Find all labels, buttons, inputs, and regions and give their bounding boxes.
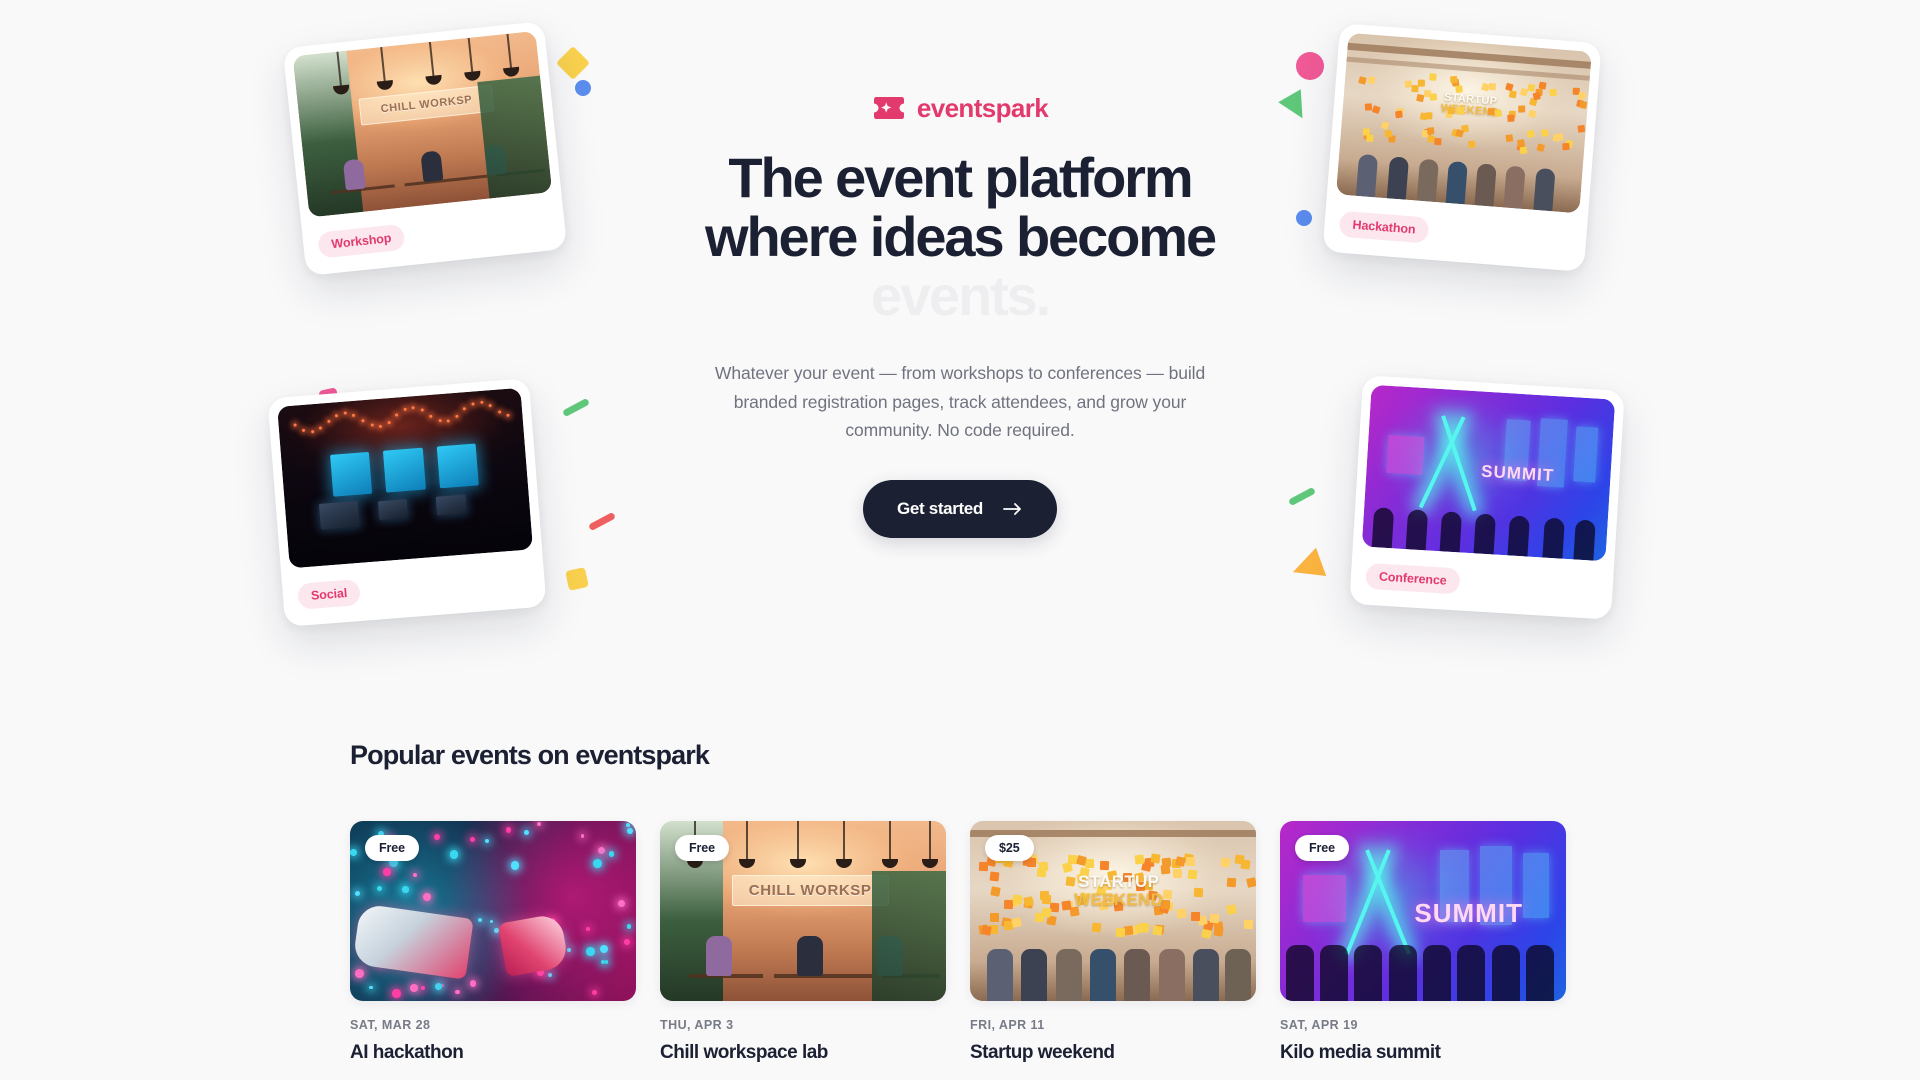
headline-line-3: events. xyxy=(650,267,1270,326)
attendee xyxy=(1492,945,1520,1001)
sticky-note xyxy=(1556,133,1564,141)
string-light-bulb xyxy=(420,409,423,412)
floating-card-conference[interactable]: SUMMIT Conference xyxy=(1349,375,1624,620)
neural-node xyxy=(586,927,590,931)
popular-events-grid: FreeSAT, MAR 28AI hackathonCHILL WORKSPF… xyxy=(350,821,1570,1065)
wall-sign: CHILL WORKSP xyxy=(732,875,889,906)
neural-node xyxy=(626,823,630,827)
string-light-bulb xyxy=(335,414,338,417)
sticky-note xyxy=(1549,89,1557,97)
neural-node xyxy=(609,851,614,856)
neural-node xyxy=(450,850,459,859)
sticky-note xyxy=(1367,134,1374,141)
neural-node xyxy=(598,847,605,854)
string-light-bulb xyxy=(412,406,415,409)
neural-node xyxy=(624,939,630,945)
event-price-badge: Free xyxy=(1295,835,1349,861)
attendee xyxy=(1320,945,1348,1001)
attendee xyxy=(1526,945,1554,1001)
event-card-image: CHILL WORKSPFree xyxy=(660,821,946,1001)
neural-node xyxy=(410,984,418,992)
sticky-note xyxy=(1153,926,1163,936)
sticky-note xyxy=(1562,143,1569,150)
sticky-note xyxy=(1241,860,1251,870)
neural-node xyxy=(567,948,571,952)
event-title[interactable]: Startup weekend xyxy=(970,1041,1256,1065)
sticky-note xyxy=(1227,878,1237,888)
floating-card-image-workshop: CHILL WORKSP xyxy=(293,31,553,218)
neural-node xyxy=(355,969,364,978)
sticky-note xyxy=(1135,924,1145,934)
floating-card-social[interactable]: Social xyxy=(267,378,546,627)
event-tag-chip: Workshop xyxy=(317,224,405,259)
event-card-image: Free xyxy=(350,821,636,1001)
event-title[interactable]: AI hackathon xyxy=(350,1041,636,1065)
sticky-note xyxy=(1368,76,1377,85)
string-light-bulb xyxy=(311,430,314,433)
hero-subheadline: Whatever your event — from workshops to … xyxy=(705,359,1215,444)
neural-node xyxy=(485,839,489,843)
event-card-image: SUMMITFree xyxy=(1280,821,1566,1001)
event-title[interactable]: Chill workspace lab xyxy=(660,1041,946,1065)
sticky-note xyxy=(1037,868,1047,878)
sticky-note xyxy=(1579,100,1587,108)
sticky-note xyxy=(1371,105,1380,114)
brand-logo[interactable]: eventspark xyxy=(650,95,1270,121)
confetti-triangle-yellow-conf xyxy=(1288,548,1326,586)
pendant-lamp xyxy=(797,821,799,861)
confetti-bar-green-social xyxy=(562,398,590,417)
string-light-bulb xyxy=(370,424,373,427)
sticky-note xyxy=(1193,887,1203,897)
string-light-bulb xyxy=(352,413,355,416)
event-tag-chip: Hackathon xyxy=(1339,211,1430,244)
sticky-note xyxy=(1124,925,1134,935)
attendee xyxy=(1286,945,1314,1001)
desk xyxy=(774,974,871,978)
confetti-triangle-green-right xyxy=(1278,89,1314,125)
sticky-note xyxy=(1577,125,1585,133)
brand-name: eventspark xyxy=(917,95,1048,121)
confetti-circle-pink-right xyxy=(1296,52,1324,80)
string-light-bulb xyxy=(344,411,347,414)
robot-hand-right xyxy=(497,913,568,977)
sticky-note xyxy=(1457,107,1464,114)
sticky-note xyxy=(1541,129,1549,137)
sticky-note xyxy=(1246,878,1256,889)
sticky-note xyxy=(1425,113,1432,120)
neural-node xyxy=(355,891,360,896)
sticky-note xyxy=(981,925,992,936)
sticky-note xyxy=(1210,914,1220,924)
sticky-note xyxy=(1226,905,1237,916)
attendee xyxy=(1159,949,1185,1001)
sticky-note xyxy=(1427,127,1435,135)
popular-events-title: Popular events on eventspark xyxy=(350,740,1570,771)
attendee xyxy=(1423,945,1451,1001)
neural-node xyxy=(593,859,602,868)
sticky-note xyxy=(1035,913,1044,922)
neural-node xyxy=(511,861,520,870)
attendee xyxy=(987,949,1013,1001)
sticky-note xyxy=(1134,854,1144,864)
attendee xyxy=(1389,945,1417,1001)
hero-section: CHILL WORKSP Workshop STARTUPWEE xyxy=(0,0,1920,730)
neural-node xyxy=(383,868,391,876)
confetti-circle-blue-left xyxy=(575,80,591,96)
neural-node xyxy=(402,886,408,892)
neural-node xyxy=(605,960,608,963)
event-card[interactable]: STARTUPWEEKEND$25FRI, APR 11Startup week… xyxy=(970,821,1256,1065)
sticky-note xyxy=(1520,147,1528,155)
headline-line-1: The event platform xyxy=(650,149,1270,208)
sticky-note xyxy=(989,872,999,882)
sticky-note xyxy=(1447,107,1454,114)
string-light-bulb xyxy=(403,408,406,411)
sticky-note xyxy=(1091,922,1101,932)
attendee xyxy=(1193,949,1219,1001)
confetti-bar-red-social xyxy=(588,512,616,531)
sticky-note xyxy=(1418,79,1425,86)
attendee xyxy=(1021,949,1047,1001)
neural-node xyxy=(434,834,440,840)
attendee xyxy=(1090,949,1116,1001)
landing-page: CHILL WORKSP Workshop STARTUPWEE xyxy=(0,0,1920,1080)
sticky-note xyxy=(1538,81,1546,89)
confetti-diamond-yellow-left xyxy=(556,46,590,80)
neural-node xyxy=(350,849,357,856)
neural-node xyxy=(470,980,476,986)
string-light-bulb xyxy=(293,423,296,426)
neural-node xyxy=(548,973,552,977)
sticky-note xyxy=(1011,917,1022,928)
string-light-bulb xyxy=(327,420,330,423)
sticky-note xyxy=(1507,115,1514,122)
sticky-note xyxy=(1518,106,1525,113)
sticky-note xyxy=(1429,73,1437,81)
event-card[interactable]: FreeSAT, MAR 28AI hackathon xyxy=(350,821,636,1065)
floating-card-image-conference: SUMMIT xyxy=(1362,385,1615,562)
neural-node xyxy=(392,989,401,998)
floating-card-workshop[interactable]: CHILL WORKSP Workshop xyxy=(283,21,568,276)
headline-line-2: where ideas become xyxy=(650,208,1270,267)
neural-node xyxy=(506,827,511,832)
neural-node xyxy=(618,900,625,907)
sticky-note xyxy=(1013,895,1023,905)
event-card-image: STARTUPWEEKEND$25 xyxy=(970,821,1256,1001)
neural-node xyxy=(423,893,431,901)
sticky-note xyxy=(1395,110,1403,118)
confetti-circle-blue-right xyxy=(1296,210,1312,226)
neural-node xyxy=(592,990,597,995)
floating-card-image-social xyxy=(277,388,533,569)
sticky-note xyxy=(1116,928,1126,938)
confetti-bar-green-conf xyxy=(1288,487,1316,506)
attendee xyxy=(877,936,903,976)
sticky-note xyxy=(1385,130,1392,137)
robot-hand-left xyxy=(352,903,474,980)
confetti-square-yellow-social xyxy=(565,567,589,591)
string-light-bulb xyxy=(302,428,305,431)
string-light-bulb xyxy=(455,414,458,417)
hero-headline: The event platform where ideas become ev… xyxy=(650,149,1270,325)
string-light-bulb xyxy=(379,425,382,428)
floating-card-image-hackathon: STARTUPWEEKEND xyxy=(1336,33,1592,214)
hero-content: eventspark The event platform where idea… xyxy=(650,95,1270,538)
get-started-button[interactable]: Get started xyxy=(863,480,1057,538)
string-light-bulb xyxy=(438,419,441,422)
neural-node xyxy=(537,822,541,826)
string-light-bulb xyxy=(429,414,432,417)
desk xyxy=(883,974,940,978)
event-price-badge: $25 xyxy=(985,835,1034,861)
string-light-bulb xyxy=(471,402,474,405)
event-price-badge: Free xyxy=(365,835,419,861)
sticky-note xyxy=(1427,135,1435,143)
sticky-note xyxy=(1505,134,1513,142)
stage-laser xyxy=(1345,850,1391,955)
attendee xyxy=(1354,945,1382,1001)
neural-node xyxy=(627,828,633,834)
sticky-note xyxy=(1358,76,1367,85)
sticky-note xyxy=(1456,85,1464,93)
sticky-note xyxy=(1099,861,1108,870)
attendee xyxy=(1124,949,1150,1001)
string-light-bulb xyxy=(387,421,390,424)
neural-node xyxy=(581,834,585,838)
sticky-note xyxy=(990,913,999,922)
sticky-note xyxy=(1527,83,1535,91)
startup-weekend-sign: STARTUPWEEKEND xyxy=(1047,871,1190,911)
event-card[interactable]: SUMMITFreeSAT, APR 19Kilo media summit xyxy=(1280,821,1566,1065)
neural-node xyxy=(586,947,595,956)
string-light-bulb xyxy=(489,404,492,407)
get-started-label: Get started xyxy=(897,499,983,519)
event-card[interactable]: CHILL WORKSPFreeTHU, APR 3Chill workspac… xyxy=(660,821,946,1065)
string-light-bulb xyxy=(480,401,483,404)
sticky-note xyxy=(1526,130,1534,138)
stage-laser xyxy=(1365,850,1411,955)
sticky-note xyxy=(1220,857,1231,868)
neural-node xyxy=(601,960,605,964)
sticky-note xyxy=(1429,93,1437,101)
string-light-bulb xyxy=(463,408,466,411)
neural-node xyxy=(600,945,608,953)
floating-card-hackathon[interactable]: STARTUPWEEKEND Hackathon xyxy=(1322,23,1601,272)
popular-events-section: Popular events on eventspark FreeSAT, MA… xyxy=(0,740,1920,1065)
string-light-bulb xyxy=(506,414,509,417)
string-light-bulb xyxy=(447,419,450,422)
sticky-note xyxy=(1533,92,1541,100)
neural-node xyxy=(470,837,475,842)
pendant-lamp xyxy=(746,821,748,861)
event-title[interactable]: Kilo media summit xyxy=(1280,1041,1566,1065)
led-screen-panel xyxy=(1523,853,1549,918)
string-light-bulb xyxy=(319,427,322,430)
pendant-lamp xyxy=(843,821,845,861)
event-date: FRI, APR 11 xyxy=(970,1018,1256,1032)
arrow-right-icon xyxy=(1003,502,1023,516)
sticky-note xyxy=(1450,76,1458,84)
attendee xyxy=(1225,949,1251,1001)
sticky-note xyxy=(1186,857,1195,866)
event-date: SAT, APR 19 xyxy=(1280,1018,1566,1032)
sticky-note xyxy=(1578,91,1586,99)
sticky-note xyxy=(1150,854,1160,864)
event-tag-chip: Conference xyxy=(1365,563,1460,595)
led-screen-panel xyxy=(1303,875,1346,922)
neural-node xyxy=(377,886,383,892)
event-date: SAT, MAR 28 xyxy=(350,1018,636,1032)
neural-node xyxy=(490,920,493,923)
neural-node xyxy=(421,986,426,991)
sticky-note xyxy=(1516,139,1524,147)
string-light-bulb xyxy=(498,410,501,413)
string-light-bulb xyxy=(395,414,398,417)
sticky-note xyxy=(990,886,1001,897)
neural-node xyxy=(478,918,482,922)
string-light-bulb xyxy=(361,419,364,422)
summit-wordmark: SUMMIT xyxy=(1414,898,1523,929)
neural-node xyxy=(413,873,417,877)
event-tag-chip: Social xyxy=(297,579,361,610)
pendant-lamp xyxy=(889,821,891,861)
pendant-lamp xyxy=(929,821,931,861)
sticky-note xyxy=(1191,911,1200,920)
attendee xyxy=(1457,945,1485,1001)
sticky-note xyxy=(1244,919,1253,928)
neural-node xyxy=(455,990,460,995)
neural-node xyxy=(369,986,372,989)
sticky-note xyxy=(1381,121,1390,130)
sticky-note xyxy=(1455,129,1464,138)
neural-node xyxy=(435,983,442,990)
hero-cta-container: Get started xyxy=(650,480,1270,538)
neural-node xyxy=(627,924,632,929)
attendee xyxy=(797,936,823,976)
event-date: THU, APR 3 xyxy=(660,1018,946,1032)
sticky-note xyxy=(1489,83,1496,90)
event-price-badge: Free xyxy=(675,835,729,861)
sticky-note xyxy=(1468,140,1475,147)
sticky-note xyxy=(1434,138,1441,145)
sticky-note xyxy=(1537,144,1546,153)
neural-node xyxy=(524,830,529,835)
ticket-icon xyxy=(872,95,906,121)
attendee xyxy=(1056,949,1082,1001)
attendee xyxy=(706,936,732,976)
